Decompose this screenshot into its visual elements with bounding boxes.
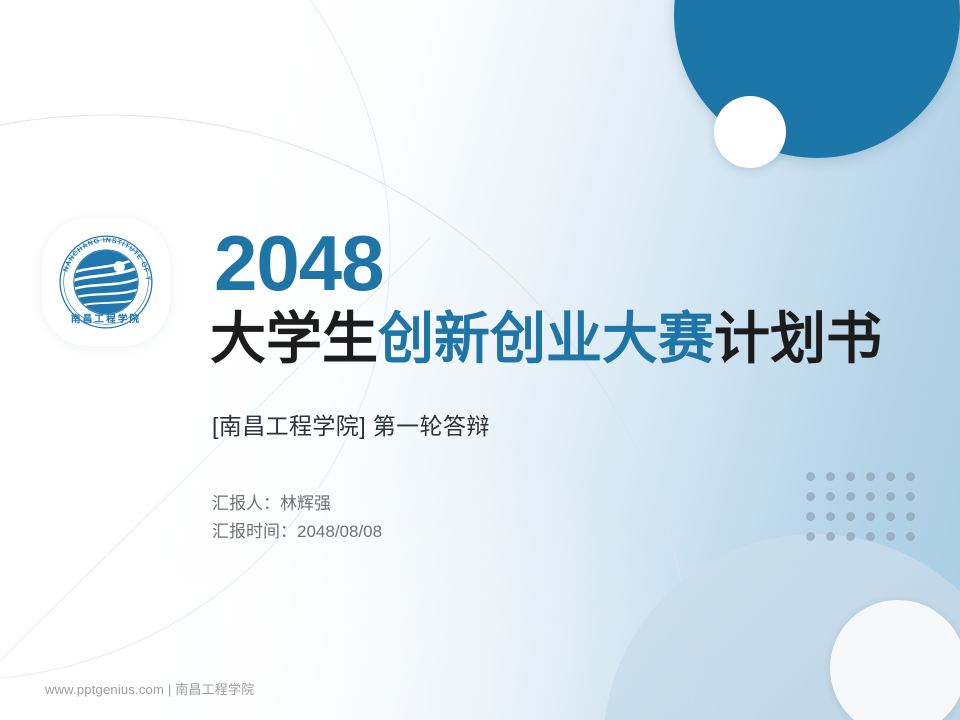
date-line: 汇报时间：2048/08/08 xyxy=(212,518,382,546)
presentation-slide: NANCHANG INSTITUTE OF TECHNOLOGY 1958 南昌… xyxy=(0,0,960,720)
slide-year: 2048 xyxy=(214,224,384,302)
slide-headline: 大学生创新创业大赛计划书 xyxy=(210,310,882,369)
slide-subtitle: [南昌工程学院] 第一轮答辩 xyxy=(212,407,490,441)
headline-part-2: 创新创业大赛 xyxy=(378,307,714,370)
presenter-line: 汇报人：林辉强 xyxy=(212,490,382,518)
headline-part-1: 大学生 xyxy=(210,307,378,370)
headline-part-3: 计划书 xyxy=(714,307,882,370)
decorative-circle-top-white xyxy=(714,96,786,168)
slide-meta: 汇报人：林辉强 汇报时间：2048/08/08 xyxy=(212,490,382,545)
slide-footer: www.pptgenius.com | 南昌工程学院 xyxy=(45,679,254,698)
university-logo: NANCHANG INSTITUTE OF TECHNOLOGY 1958 南昌… xyxy=(42,218,170,346)
university-seal-icon: NANCHANG INSTITUTE OF TECHNOLOGY 1958 南昌… xyxy=(55,231,157,333)
decorative-dot-grid xyxy=(806,472,926,552)
svg-text:1958: 1958 xyxy=(99,304,113,311)
svg-text:南昌工程学院: 南昌工程学院 xyxy=(71,312,141,325)
